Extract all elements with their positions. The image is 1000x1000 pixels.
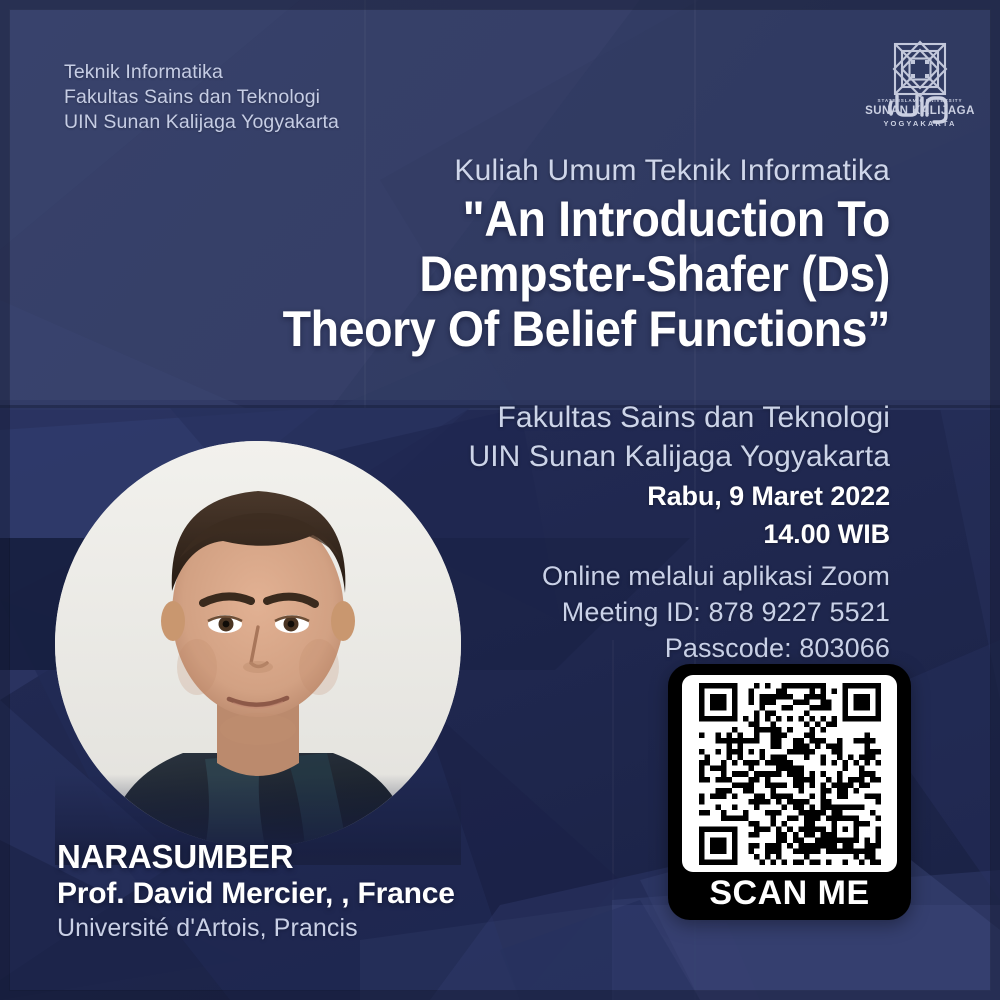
speaker-role-label: NARASUMBER xyxy=(57,838,455,876)
department-line-2: Fakultas Sains dan Teknologi xyxy=(64,85,339,110)
qr-code-icon[interactable] xyxy=(699,683,881,865)
event-poster: Teknik Informatika Fakultas Sains dan Te… xyxy=(0,0,1000,1000)
headline-line-3: Theory Of Belief Functions” xyxy=(155,302,890,357)
headline-line-1: "An Introduction To xyxy=(155,192,890,247)
speaker-info-block: NARASUMBER Prof. David Mercier, , France… xyxy=(57,838,455,945)
speaker-name: Prof. David Mercier, , France xyxy=(57,876,455,912)
uin-logo-mark xyxy=(864,36,976,146)
speaker-photo xyxy=(55,441,461,847)
qr-code-card[interactable]: SCAN ME xyxy=(668,664,911,920)
qr-scan-me-label: SCAN ME xyxy=(668,874,911,912)
event-headline: "An Introduction To Dempster-Shafer (Ds)… xyxy=(155,192,890,357)
department-line-1: Teknik Informatika xyxy=(64,60,339,85)
department-line-3: UIN Sunan Kalijaga Yogyakarta xyxy=(64,110,339,135)
speaker-portrait xyxy=(55,441,461,847)
speaker-affiliation: Université d'Artois, Prancis xyxy=(57,912,455,945)
event-eyebrow: Kuliah Umum Teknik Informatika xyxy=(100,152,890,190)
headline-line-2: Dempster-Shafer (Ds) xyxy=(155,247,890,302)
venue-line-1: Fakultas Sains dan Teknologi xyxy=(190,398,890,437)
title-block: Kuliah Umum Teknik Informatika "An Intro… xyxy=(100,152,890,357)
qr-code-panel[interactable] xyxy=(682,675,897,872)
department-block: Teknik Informatika Fakultas Sains dan Te… xyxy=(64,60,339,135)
university-logo: STATE ISLAMIC UNIVERSITY SUNAN KALIJAGA … xyxy=(864,36,976,146)
